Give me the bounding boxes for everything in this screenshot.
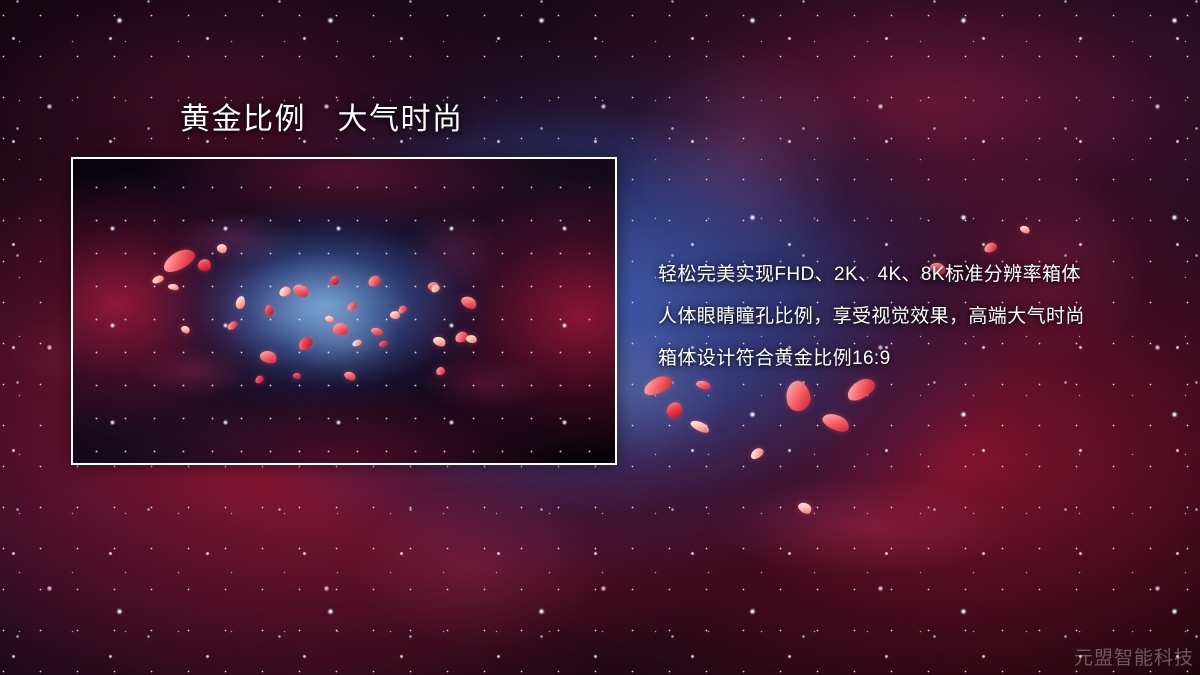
flower-petal-icon bbox=[749, 446, 766, 461]
body-copy: 轻松完美实现FHD、2K、4K、8K标准分辨率箱体 人体眼睛瞳孔比例，享受视觉效… bbox=[658, 254, 1178, 380]
flower-petal-icon bbox=[689, 418, 711, 435]
nebula-petals-photo bbox=[73, 159, 615, 463]
body-line: 轻松完美实现FHD、2K、4K、8K标准分辨率箱体 bbox=[658, 254, 1178, 296]
flower-petal-icon bbox=[695, 379, 712, 391]
slide-title: 黄金比例 大气时尚 bbox=[180, 101, 464, 139]
presentation-slide: 黄金比例 大气时尚 轻松完美实现FHD、2K、4K、8K标准分辨率箱体 人体眼睛… bbox=[0, 0, 1200, 675]
watermark: 元盟智能科技 bbox=[1074, 643, 1194, 670]
flower-petal-icon bbox=[1019, 224, 1031, 235]
photo-frame bbox=[71, 157, 617, 465]
flower-petal-icon bbox=[666, 400, 684, 418]
body-line: 人体眼睛瞳孔比例，享受视觉效果，高端大气时尚 bbox=[658, 296, 1178, 338]
flower-petal-icon bbox=[783, 379, 814, 414]
photo-wisps-overlay bbox=[73, 159, 615, 463]
flower-petal-icon bbox=[983, 241, 998, 254]
flower-petal-icon bbox=[820, 410, 852, 436]
flower-petal-icon bbox=[796, 500, 813, 516]
body-line: 箱体设计符合黄金比例16:9 bbox=[658, 338, 1178, 380]
